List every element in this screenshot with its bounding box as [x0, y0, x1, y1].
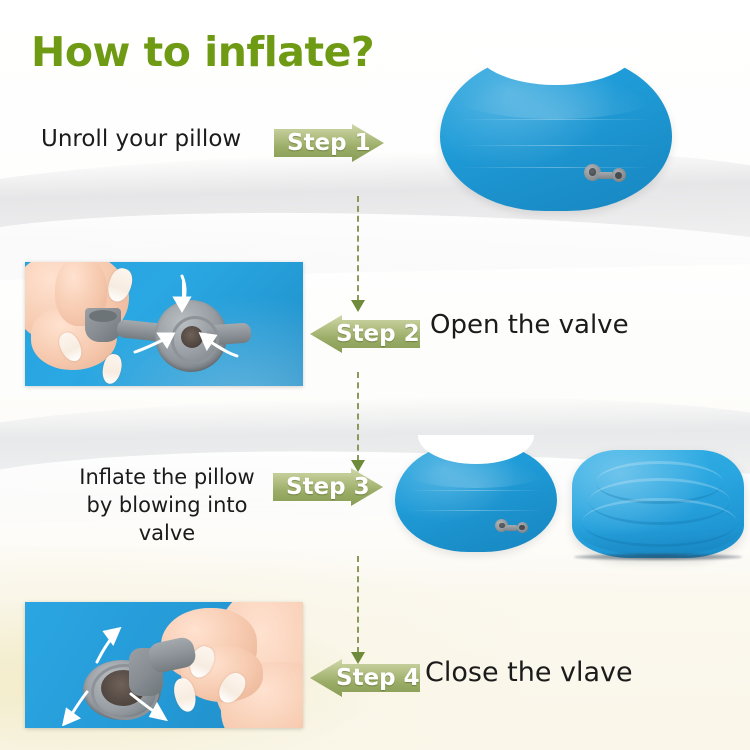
step-2-photo — [25, 262, 303, 386]
pillow-seam — [574, 554, 743, 560]
white-motion-arrow-icon — [169, 274, 195, 314]
page-title: How to inflate? — [31, 28, 374, 76]
connector-step2-step3 — [351, 372, 365, 472]
pillow-crease — [459, 119, 654, 120]
white-motion-arrow-icon — [129, 690, 169, 724]
deflated-pillow-image — [440, 53, 672, 211]
white-motion-arrow-icon — [197, 328, 241, 360]
connector-step1-step2 — [351, 196, 365, 312]
pillow-channel — [596, 461, 723, 504]
white-motion-arrow-icon — [91, 626, 125, 666]
arrow-left-icon — [310, 315, 420, 353]
arrow-left-icon — [310, 659, 420, 697]
pillow-top-notch — [418, 435, 535, 464]
step-3-caption-line1: Inflate the pillow — [62, 463, 272, 491]
pillow-crease — [459, 145, 654, 146]
step-3-badge[interactable]: Step 3 — [273, 468, 383, 506]
pillow-valve-cap — [612, 168, 626, 182]
arrow-right-icon — [273, 468, 383, 506]
pillow-channel — [589, 478, 730, 525]
white-motion-arrow-icon — [59, 688, 93, 726]
inflated-pillow-image — [572, 450, 744, 558]
step-1-badge[interactable]: Step 1 — [274, 124, 384, 162]
arrow-right-icon — [274, 124, 384, 162]
pillow-crease — [459, 167, 654, 168]
infographic-canvas: How to inflate? Unroll your pillow Step … — [0, 0, 750, 750]
pillow-valve-cap — [517, 522, 528, 533]
step-3-caption-line2: by blowing into valve — [62, 491, 272, 547]
pillow-crease — [408, 490, 544, 491]
step-3-caption: Inflate the pillow by blowing into valve — [62, 463, 272, 547]
pillow-rim — [575, 528, 740, 556]
step-4-photo — [25, 602, 303, 728]
white-motion-arrow-icon — [133, 326, 177, 356]
step-4-badge[interactable]: Step 4 — [310, 659, 420, 697]
step-4-caption: Close the vlave — [425, 657, 633, 688]
valve-cap-opening — [89, 310, 117, 322]
step-1-caption: Unroll your pillow — [41, 126, 241, 152]
step-2-badge[interactable]: Step 2 — [310, 315, 420, 353]
pillow-top-notch — [472, 44, 639, 85]
deflated-pillow-image — [395, 442, 557, 552]
connector-step3-step4 — [351, 556, 365, 664]
pillow-crease — [408, 510, 544, 511]
step-2-caption: Open the valve — [430, 310, 629, 340]
